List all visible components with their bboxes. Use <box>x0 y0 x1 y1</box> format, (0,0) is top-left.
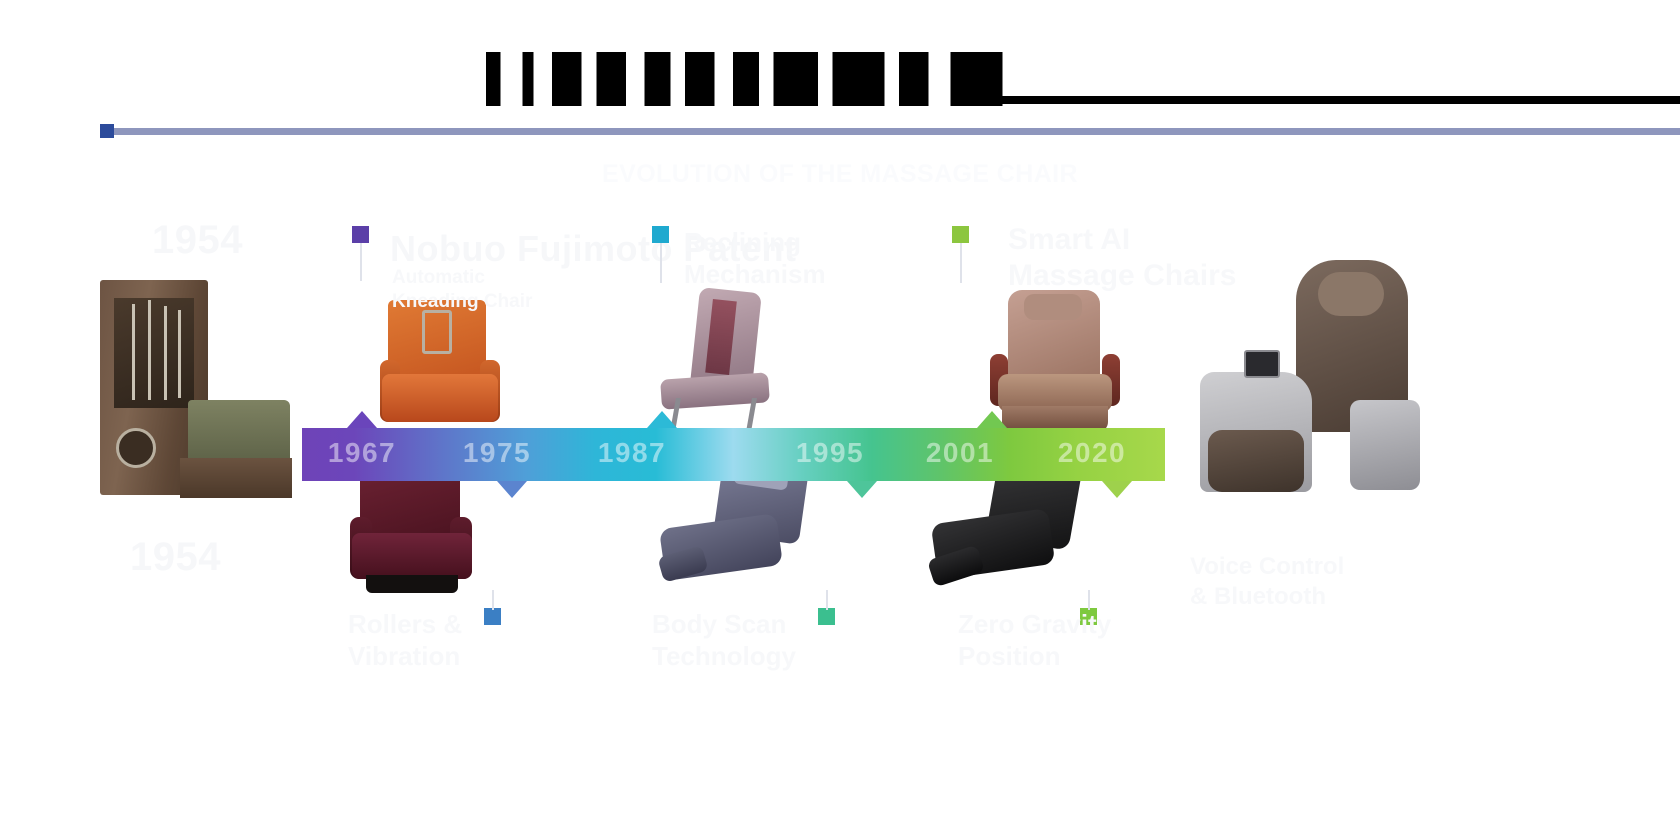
timeline-tick-2001 <box>977 411 1007 428</box>
page-title: HISTORY OF MASSAGE CHAIRS <box>0 52 1680 106</box>
timeline-tick-1987 <box>647 411 677 428</box>
page-title-text: HISTORY OF MASSAGE CHAIRS <box>471 52 1208 106</box>
milestone-1967-marker <box>352 226 369 243</box>
timeline-tick-1967 <box>347 411 377 428</box>
header-accent-rule <box>100 128 1680 135</box>
milestone-1995-marker <box>818 608 835 625</box>
milestone-1967-label: Automatic Kneading Chair <box>392 266 532 314</box>
chair-image-1995-bottom <box>660 465 810 595</box>
header-accent-cap <box>100 124 114 138</box>
milestone-1995-headline: Body Scan Technology <box>652 608 796 672</box>
chair-image-1975 <box>350 465 480 600</box>
timeline-tick-1975 <box>497 481 527 498</box>
milestone-2020-headline: Smart AI Massage Chairs <box>1008 222 1236 294</box>
milestone-1967-stem <box>360 243 362 281</box>
timeline-year-1995: 1995 <box>770 437 890 469</box>
milestone-1954-headline: 1954 <box>130 535 221 580</box>
timeline-year-2001: 2001 <box>900 437 1020 469</box>
timeline-tick-1995 <box>847 481 877 498</box>
chair-image-1967 <box>380 300 510 440</box>
milestone-1987-stem <box>660 243 662 283</box>
timeline-tick-2020 <box>1102 481 1132 498</box>
milestone-2020-marker <box>952 226 969 243</box>
milestone-1975-marker <box>484 608 501 625</box>
timeline-year-1987: 1987 <box>572 437 692 469</box>
timeline-year-1975: 1975 <box>437 437 557 469</box>
milestone-1975-stem <box>492 590 494 610</box>
milestone-2001-headline: Zero Gravity Position <box>958 608 1111 672</box>
milestone-1995-stem <box>826 590 828 610</box>
milestone-2020-stem <box>960 243 962 283</box>
infographic-canvas: HISTORY OF MASSAGE CHAIRS EVOLUTION OF T… <box>0 0 1680 836</box>
milestone-1975-headline: Rollers & Vibration <box>348 608 462 672</box>
chair-image-1954 <box>100 280 280 510</box>
milestone-2001-stem <box>1088 590 1090 610</box>
timeline-year-2020: 2020 <box>1032 437 1152 469</box>
milestone-2020-label: Voice Control & Bluetooth <box>1190 552 1344 612</box>
milestone-1987-headline: Reclining Mechanism <box>684 226 826 290</box>
milestone-1987-marker <box>652 226 669 243</box>
chair-image-2001-top <box>990 290 1125 445</box>
page-subtitle: EVOLUTION OF THE MASSAGE CHAIR <box>0 160 1680 189</box>
chair-image-2020 <box>1200 260 1420 510</box>
timeline-year-1967: 1967 <box>302 437 422 469</box>
milestone-1954-year: 1954 <box>152 218 243 263</box>
chair-image-2001-bottom <box>930 460 1080 600</box>
